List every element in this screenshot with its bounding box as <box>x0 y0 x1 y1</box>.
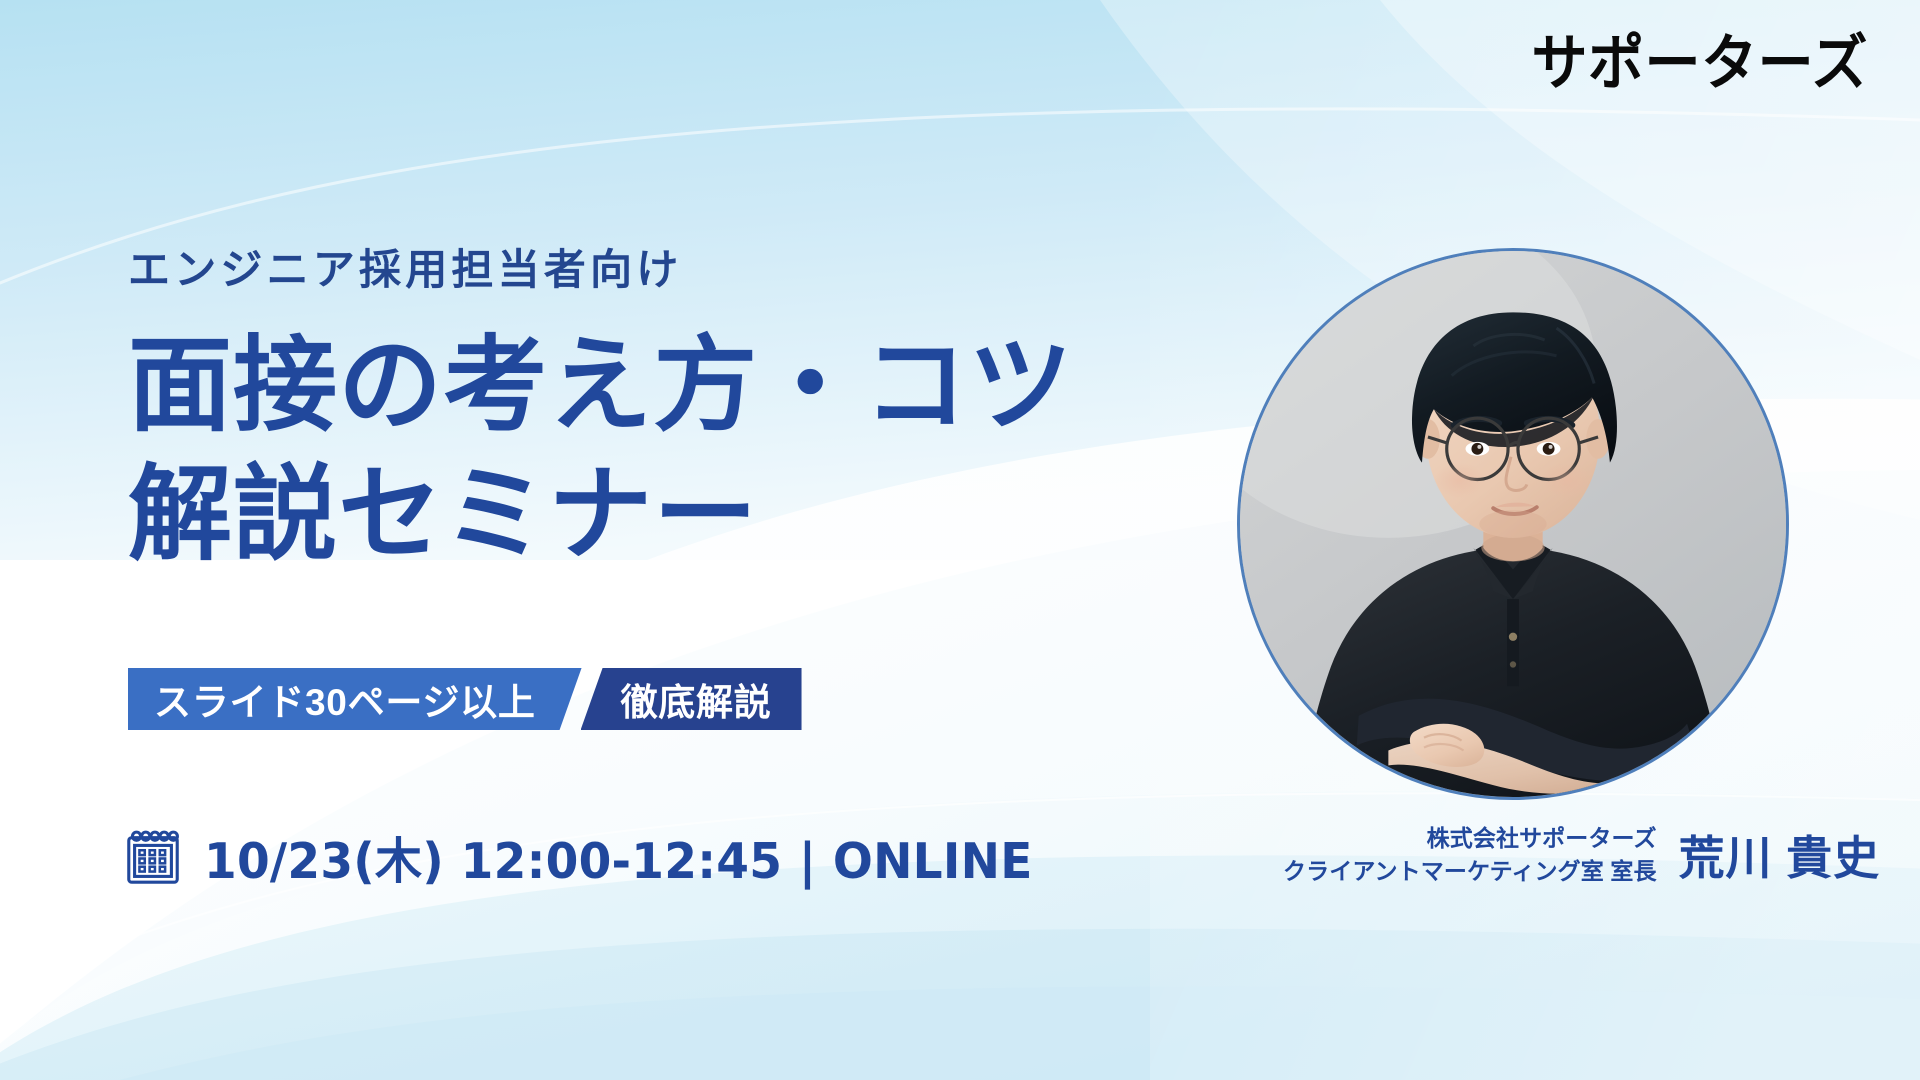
speaker-info: 株式会社サポーターズ クライアントマーケティング室 室長 荒川 貴史 <box>1180 822 1880 888</box>
seminar-banner: サポーターズ エンジニア採用担当者向け 面接の考え方・コツ 解説セミナー スライ… <box>0 0 1920 1080</box>
schedule-row: 10/23(木) 12:00-12:45 | ONLINE <box>122 822 1067 893</box>
speaker-department: クライアントマーケティング室 室長 <box>1283 855 1657 888</box>
badge-thorough-explanation: 徹底解説 <box>581 668 802 730</box>
badge-bar: スライド30ページ以上 徹底解説 <box>128 668 802 730</box>
supporterz-logo: サポーターズ <box>1531 34 1868 94</box>
speaker-photo <box>1237 248 1789 800</box>
badge-slide-count: スライド30ページ以上 <box>128 668 582 730</box>
calendar-icon <box>122 827 184 889</box>
speaker-affiliation: 株式会社サポーターズ クライアントマーケティング室 室長 <box>1283 822 1657 887</box>
title-line-1: 面接の考え方・コツ <box>128 320 1238 453</box>
headline-block: エンジニア採用担当者向け 面接の考え方・コツ 解説セミナー <box>128 246 1238 583</box>
title-line-2: 解説セミナー <box>128 449 1238 582</box>
schedule-text: 10/23(木) 12:00-12:45 | ONLINE <box>204 822 1033 893</box>
speaker-company: 株式会社サポーターズ <box>1283 822 1657 855</box>
eyebrow-text: エンジニア採用担当者向け <box>128 246 1238 294</box>
avatar <box>1240 251 1786 797</box>
speaker-name: 荒川 貴史 <box>1679 822 1880 888</box>
